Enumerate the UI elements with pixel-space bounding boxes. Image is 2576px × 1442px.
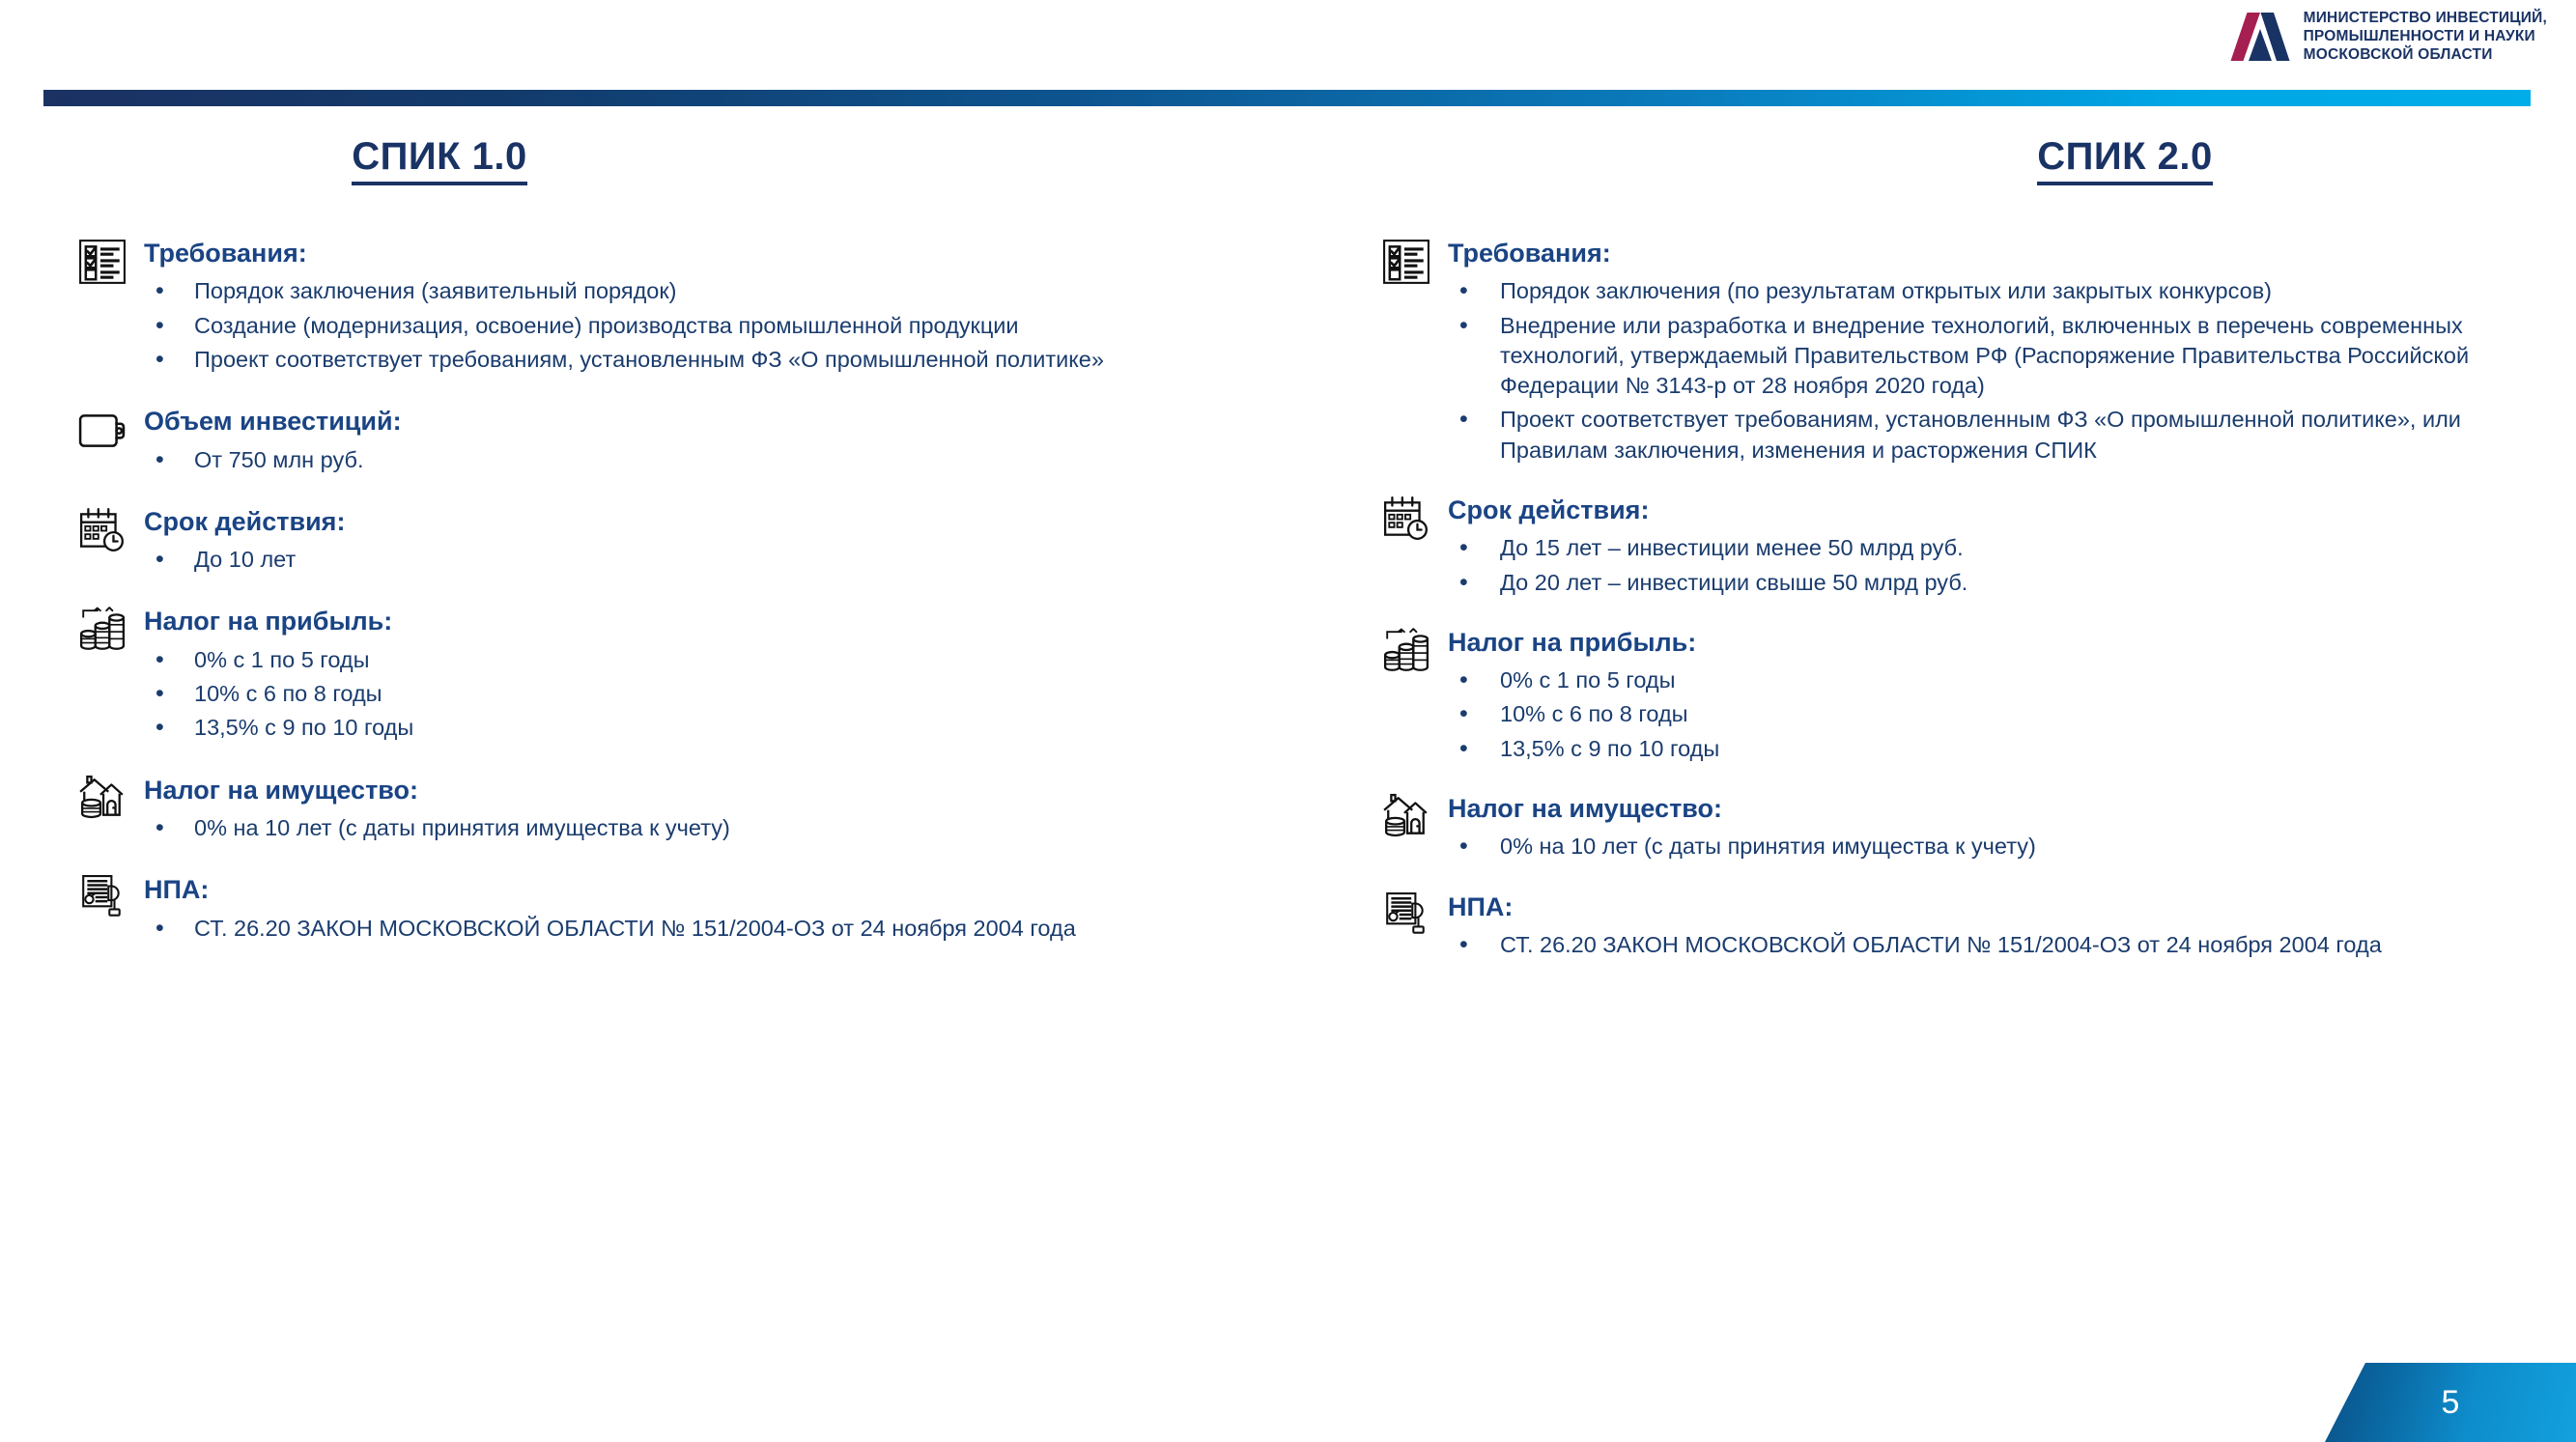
left-sections: Требования: Порядок заключения (заявител… [72,236,1357,947]
section-body: НПА: СТ. 26.20 ЗАКОН МОСКОВСКОЙ ОБЛАСТИ … [1436,890,2545,965]
section-body: Налог на прибыль: 0% с 1 по 5 годы 10% с… [132,604,1357,747]
section-body: Срок действия: До 15 лет – инвестиции ме… [1436,493,2545,602]
section-legal-acts: НПА: СТ. 26.20 ЗАКОН МОСКОВСКОЙ ОБЛАСТИ … [1376,890,2545,965]
house-coins-icon [1376,791,1436,851]
bullet-item: До 15 лет – инвестиции менее 50 млрд руб… [1448,533,2545,563]
bullet-item: 10% с 6 по 8 годы [144,679,1357,709]
bullet-item: Порядок заключения (по результатам откры… [1448,276,2545,306]
section-bullet-list: 0% на 10 лет (с даты принятия имущества … [1448,832,2545,862]
section-body: Объем инвестиций: От 750 млн руб. [132,404,1357,479]
section-body: Требования: Порядок заключения (заявител… [132,236,1357,379]
section-heading: Требования: [1448,238,2545,269]
section-bullet-list: До 15 лет – инвестиции менее 50 млрд руб… [1448,533,2545,598]
section-duration: Срок действия: До 15 лет – инвестиции ме… [1376,493,2545,602]
calendar-clock-icon [1376,493,1436,552]
column-title-spik-2-label: СПИК 2.0 [2037,135,2213,185]
section-bullet-list: До 10 лет [144,545,1357,575]
section-requirements: Требования: Порядок заключения (по резул… [1376,236,2545,469]
section-duration: Срок действия: До 10 лет [72,504,1357,580]
section-profit-tax: Налог на прибыль: 0% с 1 по 5 годы 10% с… [72,604,1357,747]
section-heading: Налог на прибыль: [1448,627,2545,658]
ministry-logo: МИНИСТЕРСТВО ИНВЕСТИЦИЙ, ПРОМЫШЛЕННОСТИ … [2230,10,2547,65]
bullet-item: Внедрение или разработка и внедрение тех… [1448,311,2545,402]
section-legal-acts: НПА: СТ. 26.20 ЗАКОН МОСКОВСКОЙ ОБЛАСТИ … [72,872,1357,947]
section-body: Налог на прибыль: 0% с 1 по 5 годы 10% с… [1436,625,2545,768]
bullet-item: Проект соответствует требованиям, устано… [144,345,1357,375]
column-spik-2: СПИК 2.0 [1376,135,2545,987]
coins-chart-icon [1376,625,1436,685]
page-number-badge: 5 [2325,1363,2576,1442]
bullet-item: СТ. 26.20 ЗАКОН МОСКОВСКОЙ ОБЛАСТИ № 151… [1448,930,2545,960]
bullet-item: 0% на 10 лет (с даты принятия имущества … [1448,832,2545,862]
section-body: НПА: СТ. 26.20 ЗАКОН МОСКОВСКОЙ ОБЛАСТИ … [132,872,1357,947]
section-bullet-list: 0% на 10 лет (с даты принятия имущества … [144,813,1357,843]
section-bullet-list: 0% с 1 по 5 годы 10% с 6 по 8 годы 13,5%… [1448,665,2545,764]
bullet-item: 10% с 6 по 8 годы [1448,699,2545,729]
section-heading: Налог на имущество: [144,775,1357,806]
section-heading: НПА: [1448,891,2545,922]
section-body: Срок действия: До 10 лет [132,504,1357,580]
document-seal-icon [1376,890,1436,949]
checklist-icon [72,236,132,296]
bullet-item: 0% с 1 по 5 годы [1448,665,2545,695]
bullet-item: До 20 лет – инвестиции свыше 50 млрд руб… [1448,568,2545,598]
section-heading: Объем инвестиций: [144,406,1357,437]
section-heading: Срок действия: [144,506,1357,537]
section-profit-tax: Налог на прибыль: 0% с 1 по 5 годы 10% с… [1376,625,2545,768]
bullet-item: 0% на 10 лет (с даты принятия имущества … [144,813,1357,843]
checklist-icon [1376,236,1436,296]
section-heading: Налог на имущество: [1448,793,2545,824]
page-number-label: 5 [2325,1363,2576,1442]
section-body: Налог на имущество: 0% на 10 лет (с даты… [1436,791,2545,866]
section-investment-volume: Объем инвестиций: От 750 млн руб. [72,404,1357,479]
ministry-logo-mark-icon [2230,12,2290,62]
right-sections: Требования: Порядок заключения (по резул… [1376,236,2545,964]
column-title-spik-2: СПИК 2.0 [1705,135,2545,185]
section-heading: НПА: [144,874,1357,905]
section-property-tax: Налог на имущество: 0% на 10 лет (с даты… [72,773,1357,848]
section-bullet-list: От 750 млн руб. [144,445,1357,475]
section-heading: Требования: [144,238,1357,269]
bullet-item: От 750 млн руб. [144,445,1357,475]
column-title-spik-1-label: СПИК 1.0 [352,135,527,185]
section-bullet-list: Порядок заключения (по результатам откры… [1448,276,2545,466]
section-heading: Срок действия: [1448,495,2545,525]
section-body: Требования: Порядок заключения (по резул… [1436,236,2545,469]
bullet-item: Создание (модернизация, освоение) произв… [144,311,1357,341]
bullet-item: Порядок заключения (заявительный порядок… [144,276,1357,306]
coins-chart-icon [72,604,132,664]
column-spik-1: СПИК 1.0 [72,135,1357,973]
calendar-clock-icon [72,504,132,564]
section-property-tax: Налог на имущество: 0% на 10 лет (с даты… [1376,791,2545,866]
section-bullet-list: Порядок заключения (заявительный порядок… [144,276,1357,375]
section-heading: Налог на прибыль: [144,606,1357,636]
section-body: Налог на имущество: 0% на 10 лет (с даты… [132,773,1357,848]
house-coins-icon [72,773,132,833]
bullet-item: Проект соответствует требованиям, устано… [1448,405,2545,466]
document-seal-icon [72,872,132,932]
section-requirements: Требования: Порядок заключения (заявител… [72,236,1357,379]
section-bullet-list: СТ. 26.20 ЗАКОН МОСКОВСКОЙ ОБЛАСТИ № 151… [1448,930,2545,960]
header-gradient-band [43,90,2531,106]
bullet-item: 13,5% с 9 по 10 годы [1448,734,2545,764]
section-bullet-list: 0% с 1 по 5 годы 10% с 6 по 8 годы 13,5%… [144,645,1357,744]
bullet-item: 13,5% с 9 по 10 годы [144,713,1357,743]
section-bullet-list: СТ. 26.20 ЗАКОН МОСКОВСКОЙ ОБЛАСТИ № 151… [144,914,1357,944]
wallet-icon [72,404,132,464]
bullet-item: СТ. 26.20 ЗАКОН МОСКОВСКОЙ ОБЛАСТИ № 151… [144,914,1357,944]
column-title-spik-1: СПИК 1.0 [72,135,807,185]
bullet-item: До 10 лет [144,545,1357,575]
bullet-item: 0% с 1 по 5 годы [144,645,1357,675]
ministry-logo-text: МИНИСТЕРСТВО ИНВЕСТИЦИЙ, ПРОМЫШЛЕННОСТИ … [2304,10,2547,65]
